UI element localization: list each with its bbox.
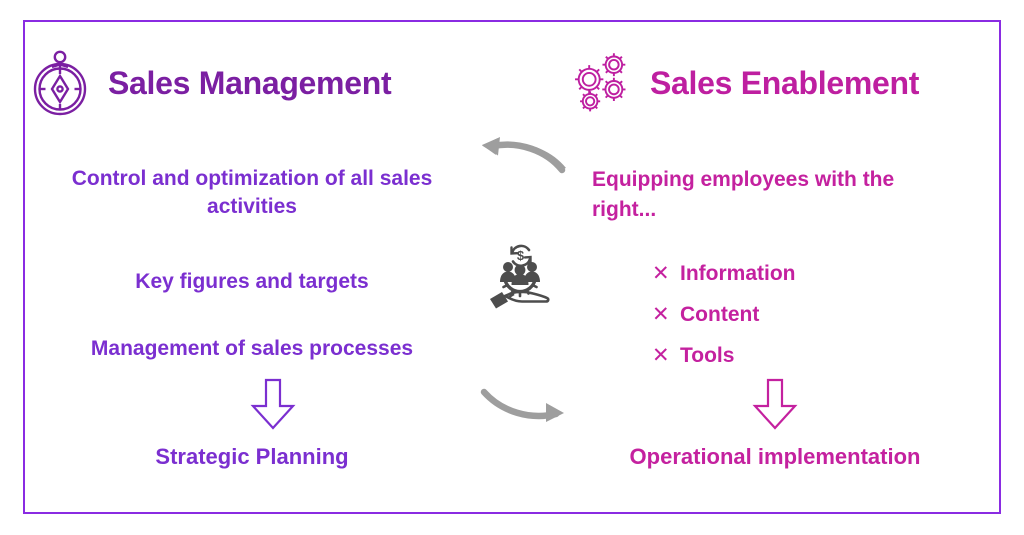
sales-enablement-header: Sales Enablement — [570, 48, 919, 118]
bullet-label-content: Content — [680, 303, 759, 327]
bullet-label-tools: Tools — [680, 344, 734, 368]
curved-arrow-left-icon — [476, 134, 572, 176]
svg-text:$: $ — [517, 248, 525, 263]
sales-enablement-title: Sales Enablement — [650, 65, 919, 102]
diagram-canvas: Sales Management — [0, 0, 1024, 535]
operational-implementation-label: Operational implementation — [560, 444, 990, 470]
down-arrow-outline-icon — [250, 378, 296, 430]
sales-management-header: Sales Management — [28, 48, 391, 118]
list-item: ✕ Tools — [652, 335, 972, 376]
gears-icon — [570, 48, 634, 118]
cross-bullet-icon: ✕ — [652, 263, 667, 284]
strategic-planning-label: Strategic Planning — [42, 444, 462, 470]
hand-holding-team-money-icon: $ — [484, 239, 556, 311]
list-item: ✕ Information — [652, 253, 972, 294]
sales-management-point-1: Control and optimization of all sales ac… — [42, 165, 462, 221]
cross-bullet-icon: ✕ — [652, 304, 667, 325]
sales-enablement-bullet-list: ✕ Information ✕ Content ✕ Tools — [652, 253, 972, 376]
sales-management-point-2: Key figures and targets — [42, 268, 462, 296]
down-arrow-outline-icon — [752, 378, 798, 430]
cross-bullet-icon: ✕ — [652, 345, 667, 366]
sales-enablement-intro: Equipping employees with the right... — [592, 165, 947, 225]
bullet-label-information: Information — [680, 262, 796, 286]
compass-icon — [28, 48, 92, 118]
sales-management-point-3: Management of sales processes — [42, 335, 462, 363]
curved-arrow-right-icon — [476, 384, 572, 426]
sales-management-title: Sales Management — [108, 65, 391, 102]
list-item: ✕ Content — [652, 294, 972, 335]
